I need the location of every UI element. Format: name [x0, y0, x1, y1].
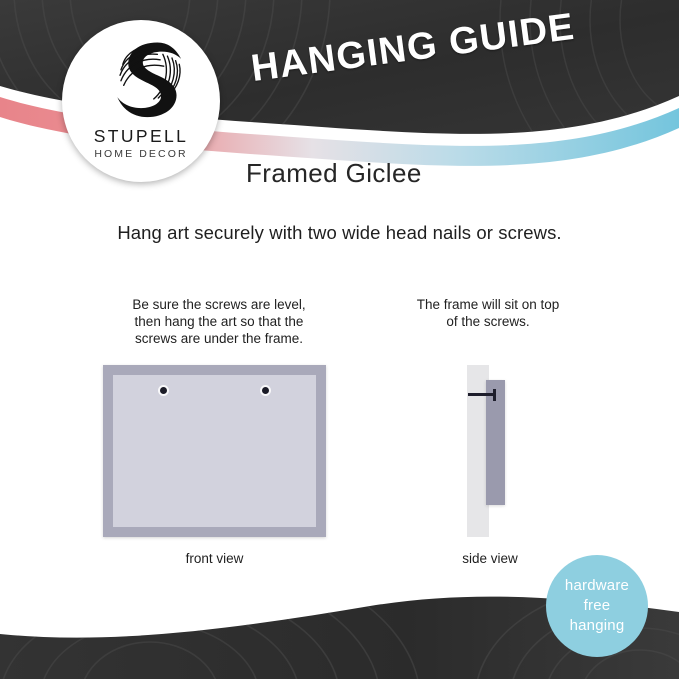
frame-inner-mat: [113, 375, 316, 527]
screw-head-icon: [493, 389, 496, 401]
front-view-caption: front view: [103, 551, 326, 566]
framed-art-front-view-icon: [103, 365, 326, 537]
logo-subwordmark: HOME DECOR: [62, 148, 220, 160]
stupell-s-swoosh-icon: [95, 37, 187, 119]
badge-line-1: hardware: [565, 576, 629, 596]
screw-dot-left-icon: [160, 387, 167, 394]
framed-art-side-view-icon: [461, 365, 521, 537]
side-view-caption: side view: [430, 551, 550, 566]
badge-line-2: free: [584, 596, 611, 616]
front-view-column: Be sure the screws are level, then hang …: [88, 296, 350, 347]
page-title: HANGING GUIDE: [249, 4, 592, 91]
side-instruction-line-1: The frame will sit on top: [388, 296, 588, 313]
front-instruction-line-2: then hang the art so that the: [88, 313, 350, 330]
screw-shaft-icon: [468, 393, 495, 396]
hardware-free-hanging-badge: hardware free hanging: [546, 555, 648, 657]
side-instruction-line-2: of the screws.: [388, 313, 588, 330]
product-type-heading: Framed Giclee: [246, 158, 422, 189]
side-view-column: The frame will sit on top of the screws.: [388, 296, 588, 330]
brand-logo-badge: STUPELL HOME DECOR: [62, 20, 220, 182]
badge-line-3: hanging: [570, 616, 625, 636]
front-instruction-line-1: Be sure the screws are level,: [88, 296, 350, 313]
logo-wordmark: STUPELL: [62, 126, 220, 147]
lead-instruction-text: Hang art securely with two wide head nai…: [0, 222, 679, 244]
screw-dot-right-icon: [262, 387, 269, 394]
hanging-guide-page: STUPELL HOME DECOR HANGING GUIDE Framed …: [0, 0, 679, 679]
front-instruction-line-3: screws are under the frame.: [88, 330, 350, 347]
